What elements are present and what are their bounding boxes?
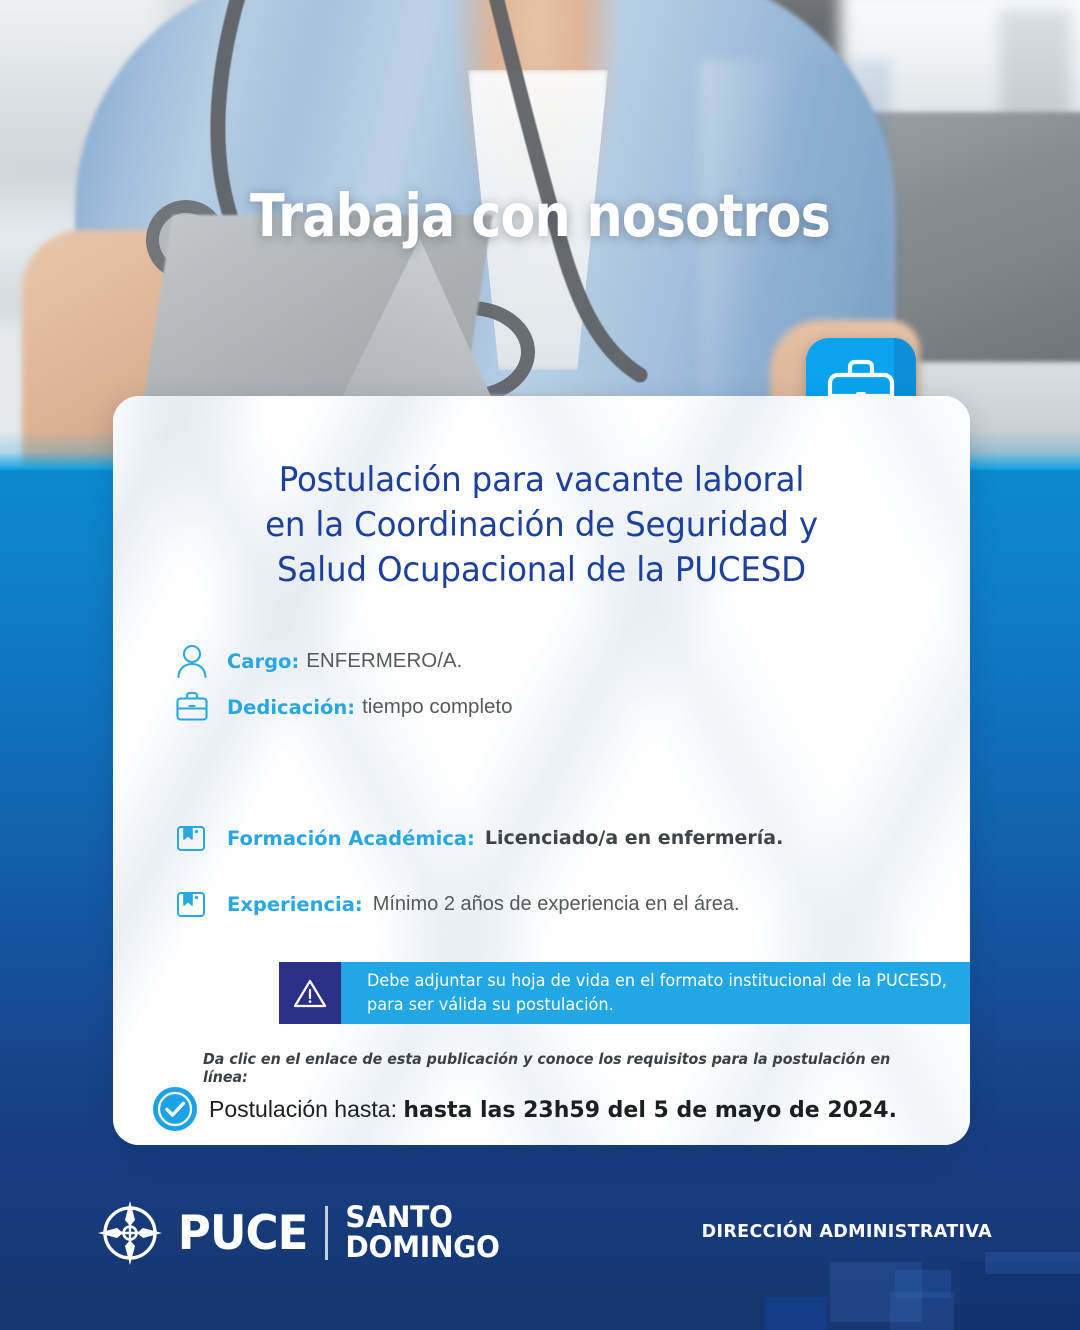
logo-campus-line-1: SANTO xyxy=(345,1203,499,1233)
requisito-value-formacion: Licenciado/a en enfermería. xyxy=(485,827,784,849)
briefcase-icon xyxy=(175,691,227,723)
warning-banner: Debe adjuntar su hoja de vida en el form… xyxy=(279,962,970,1024)
logo-divider xyxy=(325,1206,328,1260)
card-title: Postulación para vacante laboral en la C… xyxy=(126,458,957,593)
logo-campus-text: SANTO DOMINGO xyxy=(345,1203,499,1262)
publication-note: Da clic en el enlace de esta publicación… xyxy=(203,1050,910,1086)
info-label-cargo: Cargo: xyxy=(227,650,299,673)
warning-triangle-icon xyxy=(279,962,341,1024)
decorative-square xyxy=(895,1270,951,1298)
requisitos-rows: Formación Académica: Licenciado/a en enf… xyxy=(175,812,935,930)
logo-brand-text: PUCE xyxy=(178,1206,308,1261)
requisito-label-experiencia: Experiencia: xyxy=(227,893,363,916)
department-label: DIRECCIÓN ADMINISTRATIVA xyxy=(702,1222,992,1242)
certificate-icon xyxy=(175,888,227,920)
card-title-line-1: Postulación para vacante laboral xyxy=(126,458,957,503)
deadline-prefix: Postulación hasta: xyxy=(209,1096,403,1122)
requisito-value-experiencia: Mínimo 2 años de experiencia en el área. xyxy=(373,893,740,916)
decorative-square xyxy=(765,1297,827,1330)
puce-cross-emblem-icon xyxy=(97,1200,163,1266)
info-row-dedicacion: Dedicación: tiempo completo xyxy=(175,684,915,730)
check-circle-filled-icon xyxy=(141,1086,209,1132)
requisito-row-formacion: Formación Académica: Licenciado/a en enf… xyxy=(175,812,935,864)
job-posting-card: Postulación para vacante laboral en la C… xyxy=(113,396,970,1145)
info-value-dedicacion: tiempo completo xyxy=(362,695,512,719)
person-icon xyxy=(175,643,227,679)
info-label-dedicacion: Dedicación: xyxy=(227,696,355,719)
info-value-cargo: ENFERMERO/A. xyxy=(306,649,462,673)
info-row-cargo: Cargo: ENFERMERO/A. xyxy=(175,638,915,684)
footer-logo: PUCE SANTO DOMINGO xyxy=(97,1200,502,1266)
poster-root: Trabaja con nosotros Postulación para va… xyxy=(0,0,1080,1330)
deadline-text: Postulación hasta: hasta las 23h59 del 5… xyxy=(209,1096,897,1123)
requisito-row-experiencia: Experiencia: Mínimo 2 años de experienci… xyxy=(175,878,935,930)
decorative-square xyxy=(985,1252,1080,1274)
warning-line-2: para ser válida su postulación. xyxy=(367,993,947,1017)
deadline-row: Postulación hasta: hasta las 23h59 del 5… xyxy=(141,1086,961,1132)
deadline-value: hasta las 23h59 del 5 de mayo de 2024. xyxy=(403,1098,897,1123)
warning-text-body: Debe adjuntar su hoja de vida en el form… xyxy=(341,962,970,1024)
card-title-line-3: Salud Ocupacional de la PUCESD xyxy=(126,548,957,593)
page-headline: Trabaja con nosotros xyxy=(76,186,1005,246)
certificate-icon xyxy=(175,822,227,854)
logo-campus-line-2: DOMINGO xyxy=(345,1233,499,1263)
info-block: Cargo: ENFERMERO/A. Dedicación: tiempo c… xyxy=(175,638,915,730)
requisito-label-formacion: Formación Académica: xyxy=(227,827,475,850)
warning-line-1: Debe adjuntar su hoja de vida en el form… xyxy=(367,969,947,993)
card-title-line-2: en la Coordinación de Seguridad y xyxy=(126,503,957,548)
